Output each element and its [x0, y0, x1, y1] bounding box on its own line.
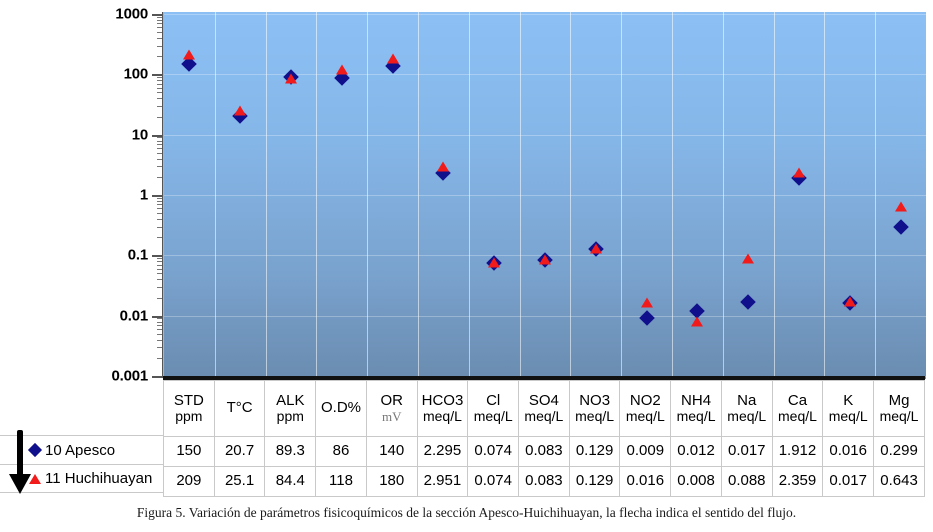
data-point-triangle — [285, 73, 297, 83]
arrow-head — [9, 474, 31, 494]
gridline-horizontal — [164, 316, 926, 317]
table-cell: 0.129 — [569, 467, 620, 497]
data-table-body: STDppmT°CALKppmO.D%ORmVHCO3meq/LClmeq/LS… — [164, 381, 925, 497]
table-cell: 0.129 — [569, 437, 620, 467]
legend-item-label: 11 Huchihuayan — [45, 470, 152, 487]
table-cell: 0.074 — [468, 467, 519, 497]
y-axis-tick-label: 0.001 — [111, 368, 148, 385]
data-point-triangle — [539, 255, 551, 265]
table-header-cell: ORmV — [366, 381, 417, 437]
data-point-triangle — [641, 298, 653, 308]
table-cell: 0.008 — [671, 467, 722, 497]
table-cell: 0.088 — [721, 467, 772, 497]
data-point-triangle — [437, 161, 449, 171]
table-cell: 2.951 — [417, 467, 468, 497]
data-point-triangle — [895, 201, 907, 211]
table-cell: 0.299 — [874, 437, 925, 467]
gridline-horizontal — [164, 14, 926, 15]
table-cell: 0.083 — [519, 437, 570, 467]
arrow-shaft — [17, 430, 23, 478]
table-cell: 86 — [316, 437, 367, 467]
table-header-row: STDppmT°CALKppmO.D%ORmVHCO3meq/LClmeq/LS… — [164, 381, 925, 437]
data-point-triangle — [488, 258, 500, 268]
table-header-cell: Mgmeq/L — [874, 381, 925, 437]
table-cell: 84.4 — [265, 467, 316, 497]
table-header-cell: NH4meq/L — [671, 381, 722, 437]
legend-item-label: 10 Apesco — [45, 442, 115, 459]
y-axis-tick-label: 0.1 — [128, 247, 148, 264]
plot-gridlines — [164, 12, 926, 379]
table-header-cell: NO3meq/L — [569, 381, 620, 437]
table-header-cell: HCO3meq/L — [417, 381, 468, 437]
table-cell: 25.1 — [214, 467, 265, 497]
plot-area — [163, 12, 926, 379]
table-header-cell: SO4meq/L — [519, 381, 570, 437]
data-point-triangle — [590, 243, 602, 253]
data-table: STDppmT°CALKppmO.D%ORmVHCO3meq/LClmeq/LS… — [163, 380, 925, 497]
data-point-triangle — [183, 50, 195, 60]
table-cell: 0.017 — [721, 437, 772, 467]
table-cell: 140 — [366, 437, 417, 467]
table-cell: 0.074 — [468, 437, 519, 467]
table-header-cell: ALKppm — [265, 381, 316, 437]
table-row: 20925.184.41181802.9510.0740.0830.1290.0… — [164, 467, 925, 497]
data-point-triangle — [742, 253, 754, 263]
table-cell: 0.012 — [671, 437, 722, 467]
data-point-triangle — [844, 296, 856, 306]
table-cell: 0.016 — [620, 467, 671, 497]
table-header-cell: STDppm — [164, 381, 215, 437]
table-cell: 2.359 — [772, 467, 823, 497]
table-cell: 89.3 — [265, 437, 316, 467]
table-header-cell: Clmeq/L — [468, 381, 519, 437]
figure-caption: Figura 5. Variación de parámetros fisico… — [0, 505, 933, 521]
data-point-triangle — [336, 64, 348, 74]
table-cell: 150 — [164, 437, 215, 467]
table-cell: 118 — [316, 467, 367, 497]
y-axis-tick-label: 0.01 — [120, 307, 148, 324]
y-axis-tick-label: 100 — [124, 66, 148, 83]
table-header-cell: O.D% — [316, 381, 367, 437]
table-header-cell: T°C — [214, 381, 265, 437]
table-header-cell: Kmeq/L — [823, 381, 874, 437]
data-point-triangle — [234, 105, 246, 115]
table-header-cell: Cameq/L — [772, 381, 823, 437]
table-row: 15020.789.3861402.2950.0740.0830.1290.00… — [164, 437, 925, 467]
y-axis-tick-label: 1000 — [115, 6, 148, 23]
data-point-triangle — [387, 53, 399, 63]
table-cell: 0.643 — [874, 467, 925, 497]
table-header-cell: Nameq/L — [721, 381, 772, 437]
gridline-horizontal — [164, 195, 926, 196]
table-cell: 20.7 — [214, 437, 265, 467]
table-header-cell: NO2meq/L — [620, 381, 671, 437]
y-axis-labels: 10001001010.10.010.001 — [0, 12, 148, 378]
table-cell: 180 — [366, 467, 417, 497]
table-cell: 0.017 — [823, 467, 874, 497]
figure-container: 10001001010.10.010.001 STDppmT°CALKppmO.… — [0, 0, 933, 532]
table-cell: 0.016 — [823, 437, 874, 467]
flow-direction-arrow-icon — [9, 430, 31, 494]
data-point-triangle — [691, 316, 703, 326]
gridline-horizontal — [164, 74, 926, 75]
data-point-triangle — [793, 167, 805, 177]
y-axis-tick-label: 10 — [132, 126, 148, 143]
table-cell: 2.295 — [417, 437, 468, 467]
table-cell: 1.912 — [772, 437, 823, 467]
table-cell: 209 — [164, 467, 215, 497]
table-cell: 0.083 — [519, 467, 570, 497]
gridline-horizontal — [164, 135, 926, 136]
table-cell: 0.009 — [620, 437, 671, 467]
y-axis-tick-label: 1 — [140, 187, 148, 204]
